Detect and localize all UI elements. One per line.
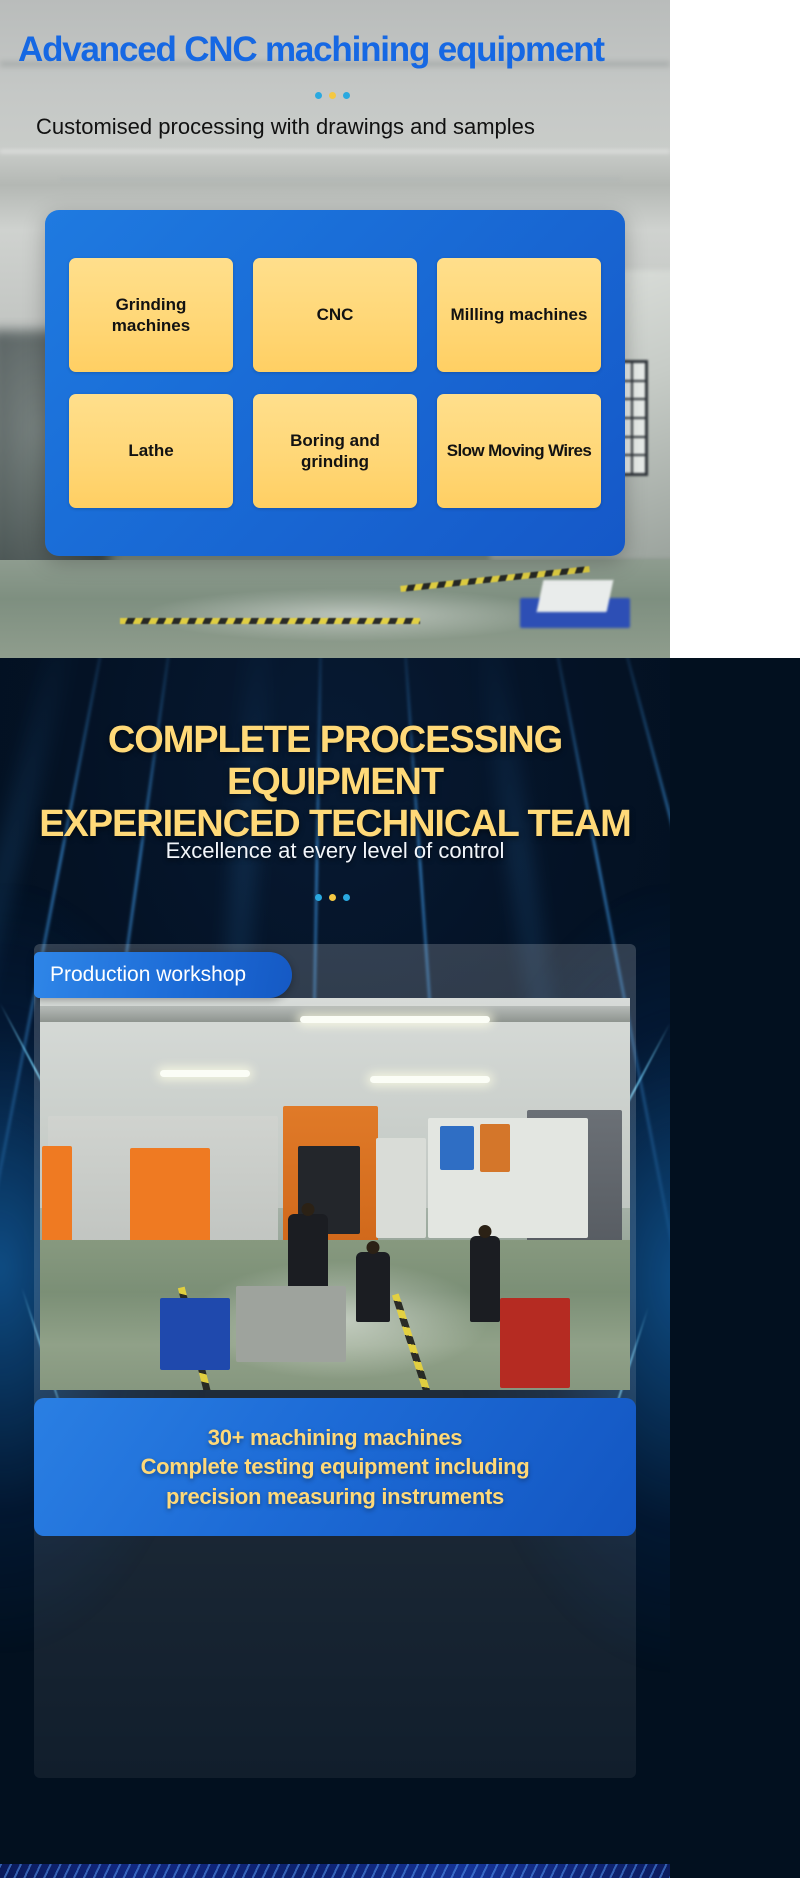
work-bench	[236, 1286, 346, 1362]
white-floor-object	[537, 580, 614, 612]
wall-poster	[440, 1126, 474, 1170]
ceiling-light	[370, 1076, 490, 1083]
cnc-machine-secondary	[376, 1138, 426, 1238]
production-workshop-photo	[40, 998, 630, 1390]
cnc-equipment-section: Advanced CNC machining equipment Customi…	[0, 0, 670, 658]
section-two-subtitle: Excellence at every level of control	[0, 838, 670, 864]
worker-figure	[470, 1236, 500, 1322]
machine-tile-lathe[interactable]: Lathe	[69, 394, 233, 508]
machine-type-card: Grinding machines CNC Milling machines L…	[45, 210, 625, 556]
stats-line-2: Complete testing equipment including	[141, 1452, 530, 1481]
ceiling-light	[160, 1070, 250, 1077]
machine-tile-cnc[interactable]: CNC	[253, 258, 417, 372]
production-workshop-tab[interactable]: Production workshop	[34, 952, 292, 998]
machine-tile-grinding[interactable]: Grinding machines	[69, 258, 233, 372]
worker-figure	[356, 1252, 390, 1322]
hazard-tape-left	[120, 618, 420, 624]
page-right-gutter-lower	[670, 658, 800, 1878]
wall-poster	[480, 1124, 510, 1172]
stats-line-1: 30+ machining machines	[208, 1423, 462, 1452]
section-one-subtitle: Customised processing with drawings and …	[36, 114, 656, 140]
ceiling-line-lower	[0, 150, 670, 153]
machine-tile-milling[interactable]: Milling machines	[437, 258, 601, 372]
machine-tile-boring[interactable]: Boring and grinding	[253, 394, 417, 508]
promo-page: Advanced CNC machining equipment Customi…	[0, 0, 800, 1878]
workshop-stats-panel: 30+ machining machines Complete testing …	[34, 1398, 636, 1536]
section-two-dot-divider	[315, 894, 350, 901]
red-cabinet	[500, 1298, 570, 1388]
machine-tile-slow-moving-wires[interactable]: Slow Moving Wires	[437, 394, 601, 508]
blue-tool-cart	[160, 1298, 230, 1370]
section-two-heading: COMPLETE PROCESSING EQUIPMENT EXPERIENCE…	[0, 720, 670, 845]
section-one-title: Advanced CNC machining equipment	[18, 32, 658, 67]
ceiling-beam	[60, 178, 620, 180]
bottom-decorative-strip	[0, 1864, 670, 1878]
stats-line-3: precision measuring instruments	[166, 1482, 504, 1511]
section-one-dot-divider	[315, 92, 350, 99]
ceiling-light	[300, 1016, 490, 1023]
section-two-heading-line1: COMPLETE PROCESSING EQUIPMENT	[108, 719, 562, 803]
